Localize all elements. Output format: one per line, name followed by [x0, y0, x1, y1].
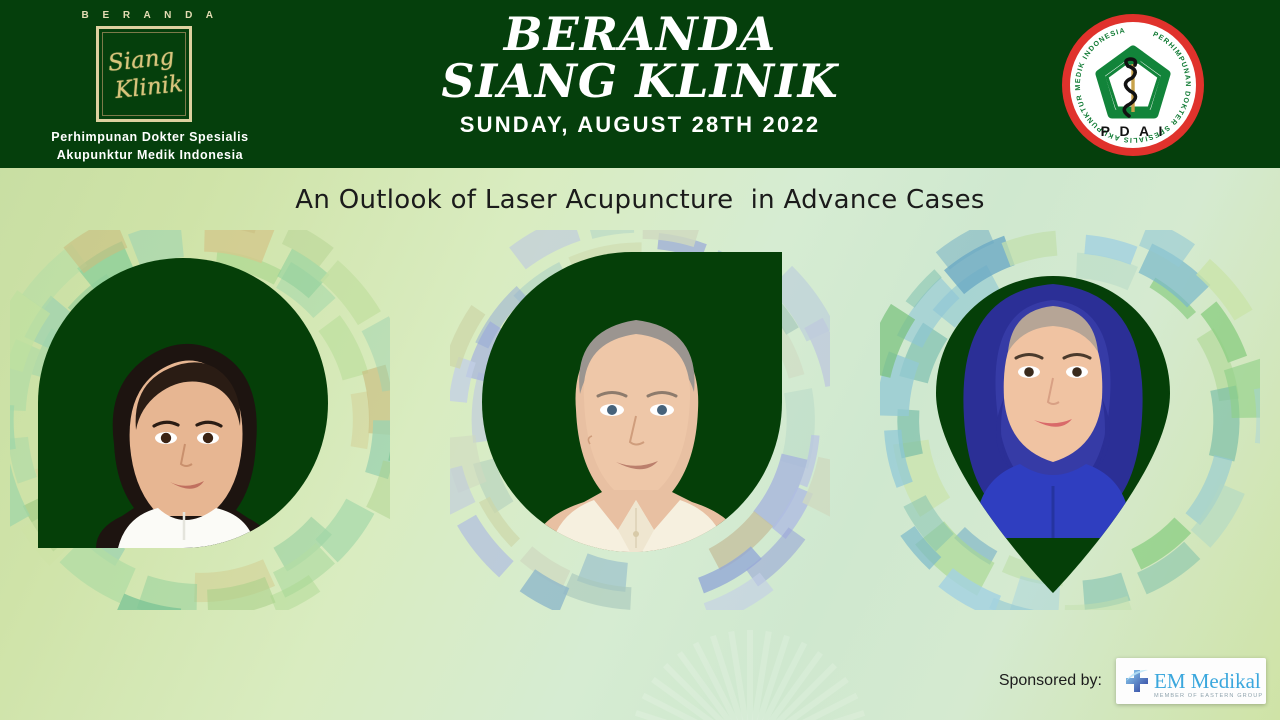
speaker-portrait-1 [96, 326, 272, 548]
speaker-portrait-2 [532, 286, 742, 552]
brand-org-line1: Perhimpunan Dokter Spesialis [0, 128, 300, 146]
pdai-logo: PERHIMPUNAN DOKTER SPESIALIS AKUPUNKTUR … [1062, 14, 1204, 156]
event-title-block: BERANDA SIANG KLINIK SUNDAY, AUGUST 28TH… [330, 0, 950, 168]
speaker-card-2: Hans Michael Weber, MD [450, 230, 830, 630]
beranda-brand-lockup: B E R A N D A Siang Klinik Perhimpunan D… [0, 4, 300, 168]
speaker-card-1: Dr. Dwi Rachma Helianthi, Sp.Ak(K) [10, 230, 390, 630]
map-pin-shape [908, 248, 1198, 593]
speaker-photo-frame-2 [482, 252, 782, 552]
sponsor-block: Sponsored by: EM Medikal MEMBER OF EASTE… [999, 658, 1266, 704]
sponsor-logo-name: EM Medikal [1154, 671, 1261, 692]
event-title-line2: SIANG KLINIK [330, 58, 950, 104]
speaker-photo-frame-3 [908, 248, 1198, 593]
brand-top-label: B E R A N D A [0, 10, 300, 21]
medical-cross-icon [1124, 668, 1150, 694]
session-subtitle: An Outlook of Laser Acupuncture in Advan… [0, 185, 1280, 215]
sponsor-logo-tagline: MEMBER OF EASTERN GROUP [1154, 693, 1263, 699]
pdai-acronym: P D A I [1062, 123, 1204, 139]
speaker-card-3: Dr. Dian Eka Putri, Sp.Ak [880, 230, 1260, 630]
brand-organization-name: Perhimpunan Dokter Spesialis Akupunktur … [0, 128, 300, 164]
event-title-line1: BERANDA [330, 11, 950, 57]
poster-header: B E R A N D A Siang Klinik Perhimpunan D… [0, 0, 1280, 168]
brand-script-logo: Siang Klinik [96, 26, 192, 122]
brand-org-line2: Akupunktur Medik Indonesia [0, 146, 300, 164]
brand-script-line2: Klinik [114, 71, 184, 104]
sponsor-label: Sponsored by: [999, 672, 1102, 690]
speaker-photo-frame-1 [38, 258, 328, 548]
event-date: SUNDAY, AUGUST 28TH 2022 [330, 112, 950, 138]
sponsor-logo[interactable]: EM Medikal MEMBER OF EASTERN GROUP [1116, 658, 1266, 704]
poster-stage: Dr. Dwi Rachma Helianthi, Sp.Ak(K) [0, 0, 1280, 720]
